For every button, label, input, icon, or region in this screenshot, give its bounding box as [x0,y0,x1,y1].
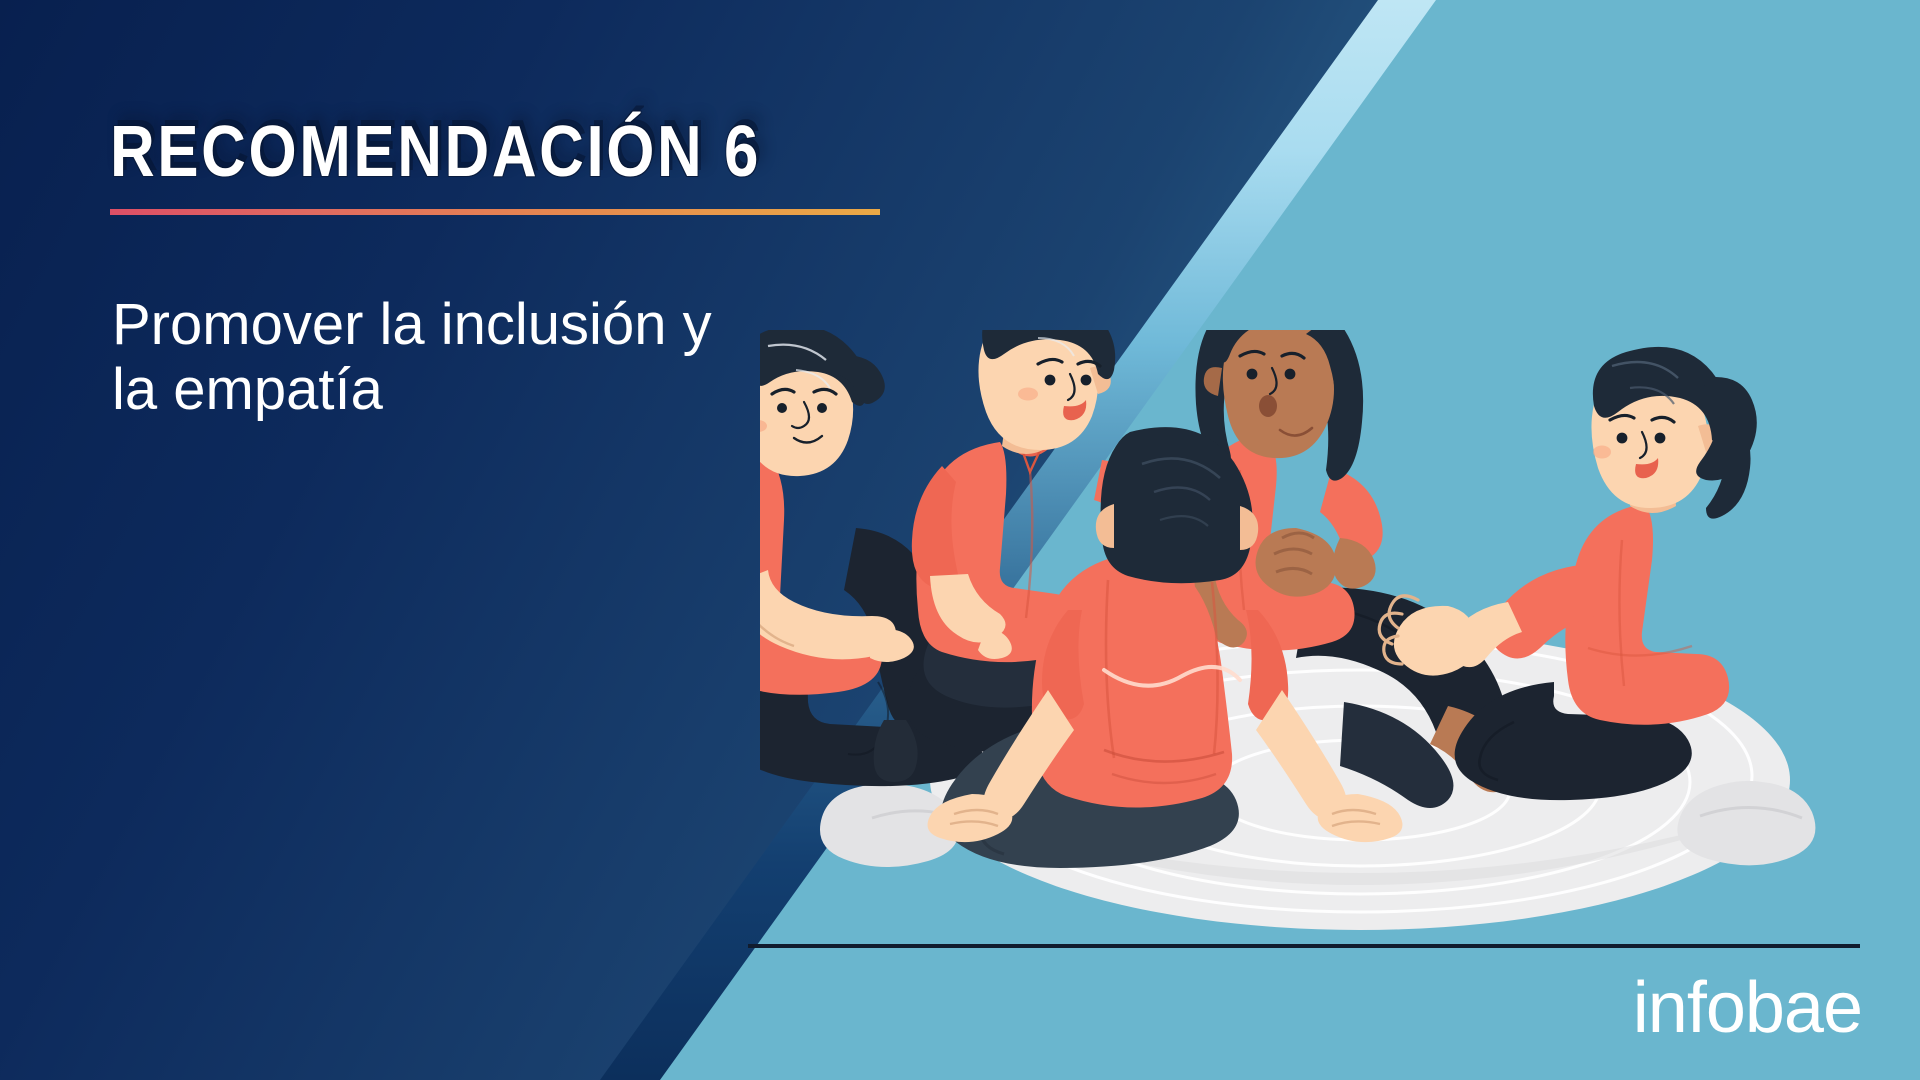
slide-canvas: RECOMENDACIÓN 6 Promover la inclusión y … [0,0,1920,1080]
group-illustration [760,330,1920,955]
infobae-logo[interactable]: infobae [1633,972,1862,1044]
gradient-rule [110,209,880,215]
subtitle-text: Promover la inclusión y la empatía [112,293,712,423]
footer-divider [748,944,1860,948]
page-title: RECOMENDACIÓN 6 [110,118,761,187]
headline-block: RECOMENDACIÓN 6 [110,118,1010,215]
